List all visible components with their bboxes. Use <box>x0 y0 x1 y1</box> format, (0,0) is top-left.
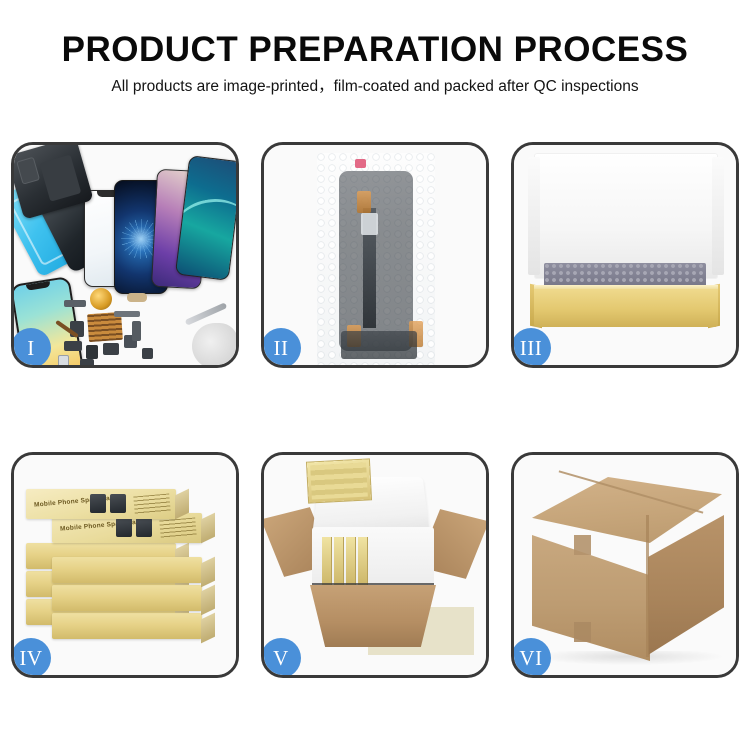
open-gold-box-photo <box>514 145 736 365</box>
step-number-badge-3: III <box>511 328 551 368</box>
copper-coil-part <box>90 288 112 310</box>
stacked-gold-boxes-photo: Mobile Phone Spare Parts Mobile Phone Sp… <box>14 455 236 675</box>
process-step-5: V <box>261 452 489 678</box>
white-foam-liner <box>534 153 718 279</box>
carton-front-face <box>532 535 650 661</box>
gold-box <box>52 557 202 583</box>
box-side <box>201 585 215 616</box>
product-preparation-infographic: PRODUCT PREPARATION PROCESS All products… <box>0 0 750 750</box>
page-title: PRODUCT PREPARATION PROCESS <box>0 30 750 70</box>
carton-tape-mark <box>574 622 591 642</box>
carton-tape-mark <box>574 535 591 555</box>
page-subtitle: All products are image-printed，film-coat… <box>0 76 750 98</box>
step-number-badge-2: II <box>261 328 301 368</box>
sealed-carton-photo <box>514 455 736 675</box>
bubble-wrap-bag <box>317 153 435 365</box>
box-side <box>201 557 215 588</box>
box-front-panel <box>534 289 718 327</box>
box-side <box>201 613 215 644</box>
box-stack: Mobile Phone Spare Parts Mobile Phone Sp… <box>20 473 236 665</box>
process-step-4: Mobile Phone Spare Parts Mobile Phone Sp… <box>11 452 239 678</box>
step-number-badge-4: IV <box>11 638 51 678</box>
spare-part-chip <box>80 359 94 368</box>
spare-part-chip <box>58 355 69 368</box>
box-label-screen-image <box>116 518 132 537</box>
box-label-text: Mobile Phone Spare Parts <box>60 518 145 532</box>
display-arc <box>175 192 239 269</box>
step-number-badge-6: VI <box>511 638 551 678</box>
header: PRODUCT PREPARATION PROCESS All products… <box>0 30 750 98</box>
battery-module <box>40 154 82 201</box>
gold-box <box>52 613 202 639</box>
spare-part-chip <box>64 300 86 307</box>
step-number-badge-5: V <box>261 638 301 678</box>
gold-box-edge <box>322 537 331 585</box>
gold-box <box>52 585 202 611</box>
process-step-6: VI <box>511 452 739 678</box>
gold-box-edge <box>334 537 343 585</box>
spare-part-chip <box>64 341 82 351</box>
lcd-connector <box>361 213 378 235</box>
process-step-1: I <box>11 142 239 368</box>
box-label-screen-image <box>90 494 106 513</box>
box-label-spec-lines <box>133 493 170 514</box>
red-pull-tab <box>355 159 366 168</box>
box-label-spec-lines <box>159 517 196 538</box>
bubble-wrapped-screen-photo <box>264 145 486 365</box>
box-label-screen-image <box>136 518 152 537</box>
gold-box-labeled: Mobile Phone Spare Parts <box>26 489 176 519</box>
lcd-lower-section <box>341 331 417 359</box>
box-label-text: Mobile Phone Spare Parts <box>34 494 119 508</box>
carton-vertical-edge <box>646 515 649 657</box>
process-step-3: III <box>511 142 739 368</box>
spare-part-chip <box>103 343 119 355</box>
box-side <box>201 513 215 544</box>
hand-holding-part <box>192 323 238 368</box>
box-label-screen-image <box>110 494 126 513</box>
spare-part-chip <box>114 311 140 317</box>
carton-with-foam-insert-photo <box>264 455 486 675</box>
spare-part-chip <box>127 293 147 302</box>
gold-box-edge <box>346 537 355 585</box>
lcd-screen-inside <box>339 171 413 351</box>
stacked-gold-boxes-inside <box>307 459 371 502</box>
spare-part-chip <box>142 348 153 359</box>
spare-part-chip <box>86 345 98 359</box>
carton-body <box>310 585 436 647</box>
protective-tape <box>357 191 371 213</box>
phones-and-parts-photo <box>14 145 236 365</box>
process-step-2: II <box>261 142 489 368</box>
process-step-grid: I II <box>11 142 739 680</box>
gold-box-edge <box>358 537 367 585</box>
camera-module <box>16 157 40 185</box>
step-number-badge-1: I <box>11 328 51 368</box>
spare-part-chip <box>132 321 141 341</box>
